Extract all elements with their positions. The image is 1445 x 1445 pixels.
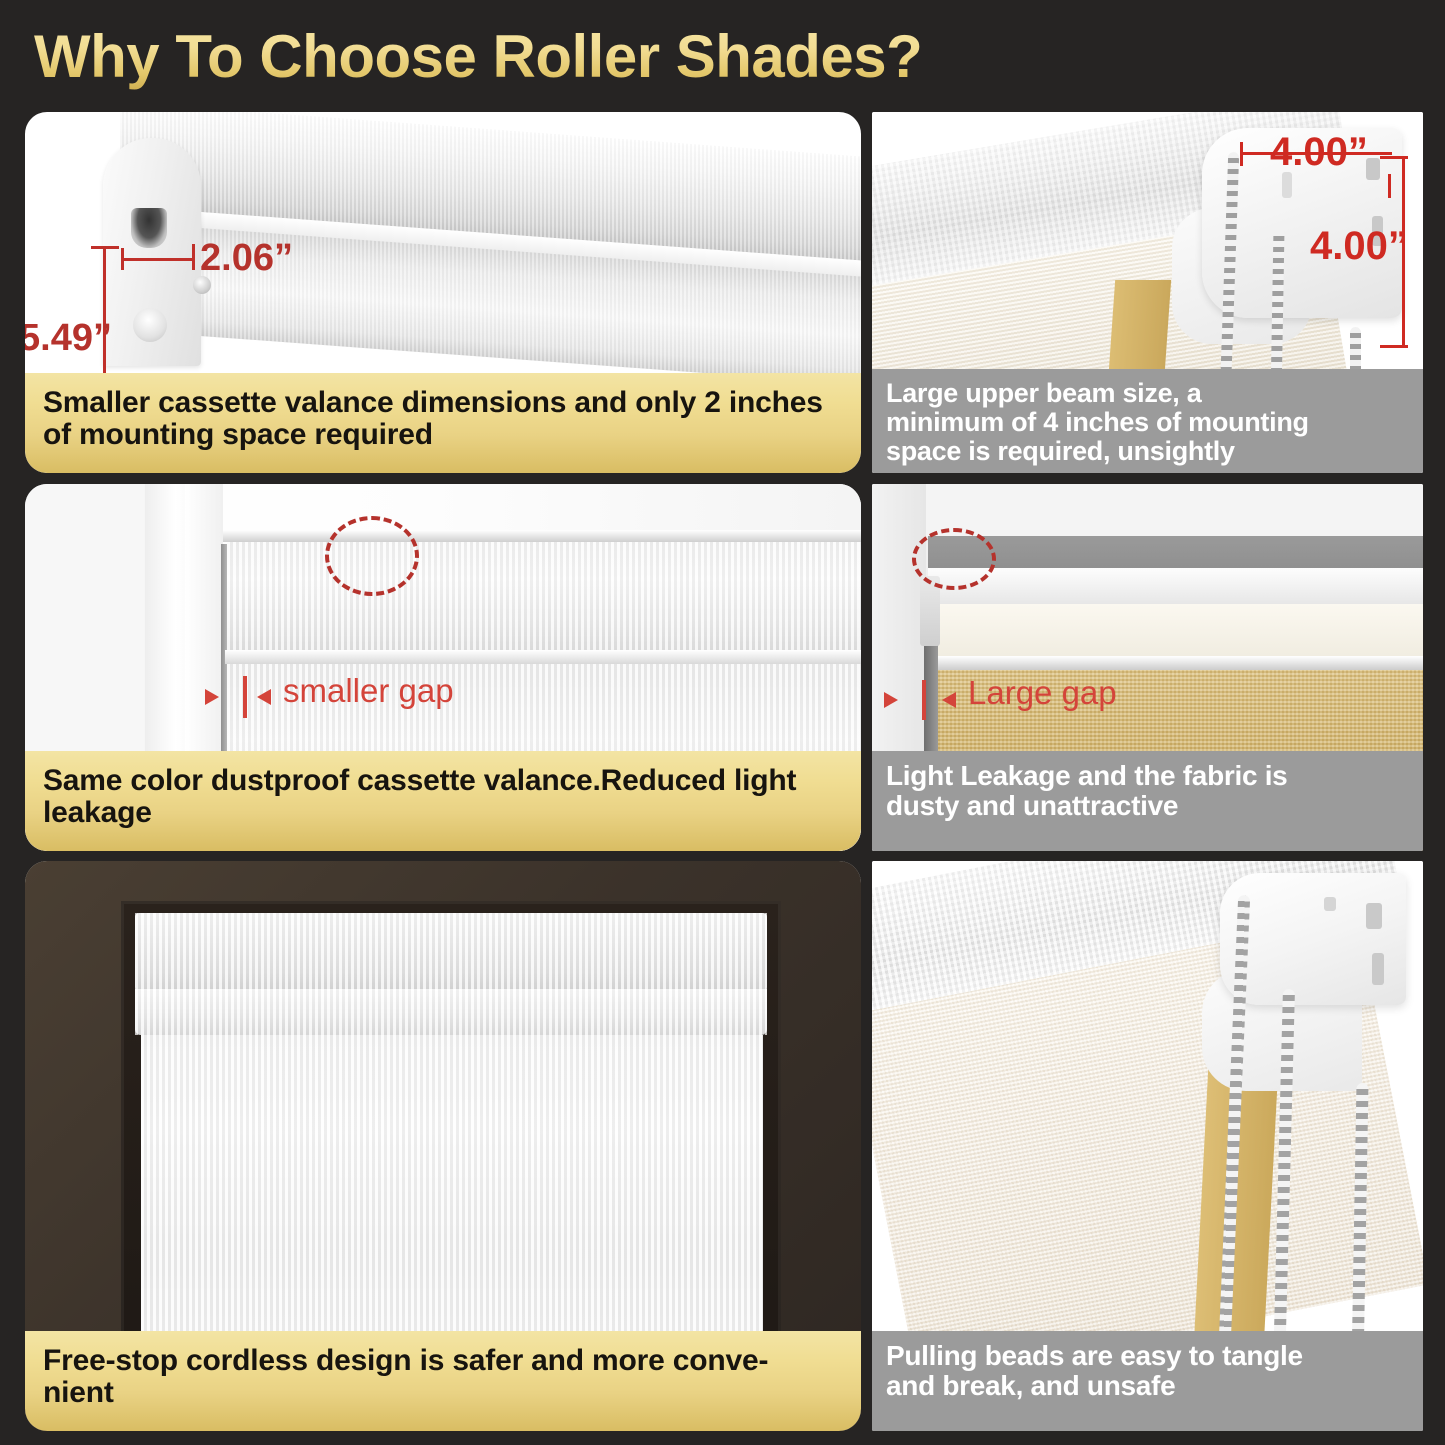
caption-panel-3-text: Same color dustproof cassette valance.Re… xyxy=(43,765,843,830)
smaller-gap-label: smaller gap xyxy=(283,672,454,710)
beam-fabric-band xyxy=(934,604,1423,660)
shade-upper-section xyxy=(227,542,861,650)
gap-arrow-left-icon xyxy=(942,692,956,708)
caption-panel-2-line-1: Large upper beam size, a xyxy=(886,379,1309,408)
highlight-circle-icon xyxy=(912,528,996,590)
caption-panel-6-text: Pulling beads are easy to tangle and bre… xyxy=(886,1341,1303,1401)
cassette-valance-top xyxy=(135,913,767,991)
caption-panel-5-text: Free-stop cordless design is safer and m… xyxy=(43,1345,768,1410)
comparison-grid: 2.06” 5.49” Smaller cassette valance dim… xyxy=(0,104,1445,1440)
beam-lip xyxy=(932,656,1423,670)
bracket-slot-a xyxy=(1366,903,1382,929)
cassette-valance-front xyxy=(135,989,767,1035)
page-title: Why To Choose Roller Shades? xyxy=(34,18,1414,96)
caption-panel-4-line-2: dusty and unattractive xyxy=(886,791,1287,821)
infographic-page: Why To Choose Roller Shades? 2.06” xyxy=(0,0,1445,1445)
gap-arrow-left-icon xyxy=(257,689,271,705)
width-tick-right xyxy=(192,244,195,270)
height-tick-top xyxy=(91,246,119,249)
panel-free-stop-cordless-window: Free-stop cordless design is safer and m… xyxy=(25,861,861,1431)
caption-panel-5: Free-stop cordless design is safer and m… xyxy=(25,1331,861,1431)
shade-mid-rail xyxy=(225,650,861,664)
caption-panel-1-text: Smaller cassette valance dimensions and … xyxy=(43,387,843,452)
beam-depth-tick-top xyxy=(1380,156,1408,159)
bracket-slot-c xyxy=(1324,897,1336,911)
caption-panel-1: Smaller cassette valance dimensions and … xyxy=(25,373,861,473)
caption-panel-2-line-2: minimum of 4 inches of mounting xyxy=(886,408,1309,437)
width-tick-left xyxy=(121,248,124,270)
width-dimension-label: 2.06” xyxy=(200,237,293,280)
panel-cassette-valance-profile: 2.06” 5.49” Smaller cassette valance dim… xyxy=(25,112,861,473)
beam-width-tick-right xyxy=(1388,174,1391,198)
caption-panel-2-line-3: space is required, unsightly xyxy=(886,437,1309,466)
valance-cord-hole xyxy=(131,208,167,248)
caption-panel-2-text: Large upper beam size, a minimum of 4 in… xyxy=(886,379,1309,466)
roller-shade-fabric xyxy=(141,1035,763,1345)
panel-pulling-beads-tangle: Pulling beads are easy to tangle and bre… xyxy=(872,861,1423,1431)
width-rule xyxy=(123,258,195,261)
caption-panel-5-line-2: nient xyxy=(43,1377,768,1409)
valance-top-cap xyxy=(223,530,861,542)
beam-depth-tick-bottom xyxy=(1380,345,1408,348)
page-title-wrap: Why To Choose Roller Shades? xyxy=(34,18,1414,98)
valance-knob xyxy=(133,308,167,342)
bracket-slot-a xyxy=(1366,158,1380,180)
caption-panel-3: Same color dustproof cassette valance.Re… xyxy=(25,751,861,851)
caption-panel-6: Pulling beads are easy to tangle and bre… xyxy=(872,1331,1423,1431)
gap-arrow-right-icon xyxy=(884,692,898,708)
caption-panel-5-line-1: Free-stop cordless design is safer and m… xyxy=(43,1345,768,1377)
beam-depth-label: 4.00” xyxy=(1310,224,1408,269)
large-gap-label: Large gap xyxy=(968,674,1117,712)
height-dimension-label: 5.49” xyxy=(25,317,112,360)
panel-light-leakage-dusty-fabric: Large gap Light Leakage and the fabric i… xyxy=(872,484,1423,851)
panel-large-upper-beam: 4.00” 4.00” Large upper beam size, a min… xyxy=(872,112,1423,473)
bracket-slot-c xyxy=(1282,172,1292,198)
caption-panel-2: Large upper beam size, a minimum of 4 in… xyxy=(872,369,1423,473)
bracket-slot-b xyxy=(1372,953,1384,985)
caption-panel-4: Light Leakage and the fabric is dusty an… xyxy=(872,751,1423,851)
gap-bar-marker xyxy=(922,680,926,720)
gap-bar-marker xyxy=(243,676,247,718)
caption-panel-4-line-1: Light Leakage and the fabric is xyxy=(886,761,1287,791)
beam-width-tick-left xyxy=(1240,142,1243,166)
caption-panel-6-line-2: and break, and unsafe xyxy=(886,1371,1303,1401)
panel-dustproof-cassette-valance: smaller gap Same color dustproof cassett… xyxy=(25,484,861,851)
gap-arrow-right-icon xyxy=(205,689,219,705)
beam-width-label: 4.00” xyxy=(1270,130,1368,175)
caption-panel-6-line-1: Pulling beads are easy to tangle xyxy=(886,1341,1303,1371)
highlight-circle-icon xyxy=(325,516,419,596)
caption-panel-4-text: Light Leakage and the fabric is dusty an… xyxy=(886,761,1287,821)
